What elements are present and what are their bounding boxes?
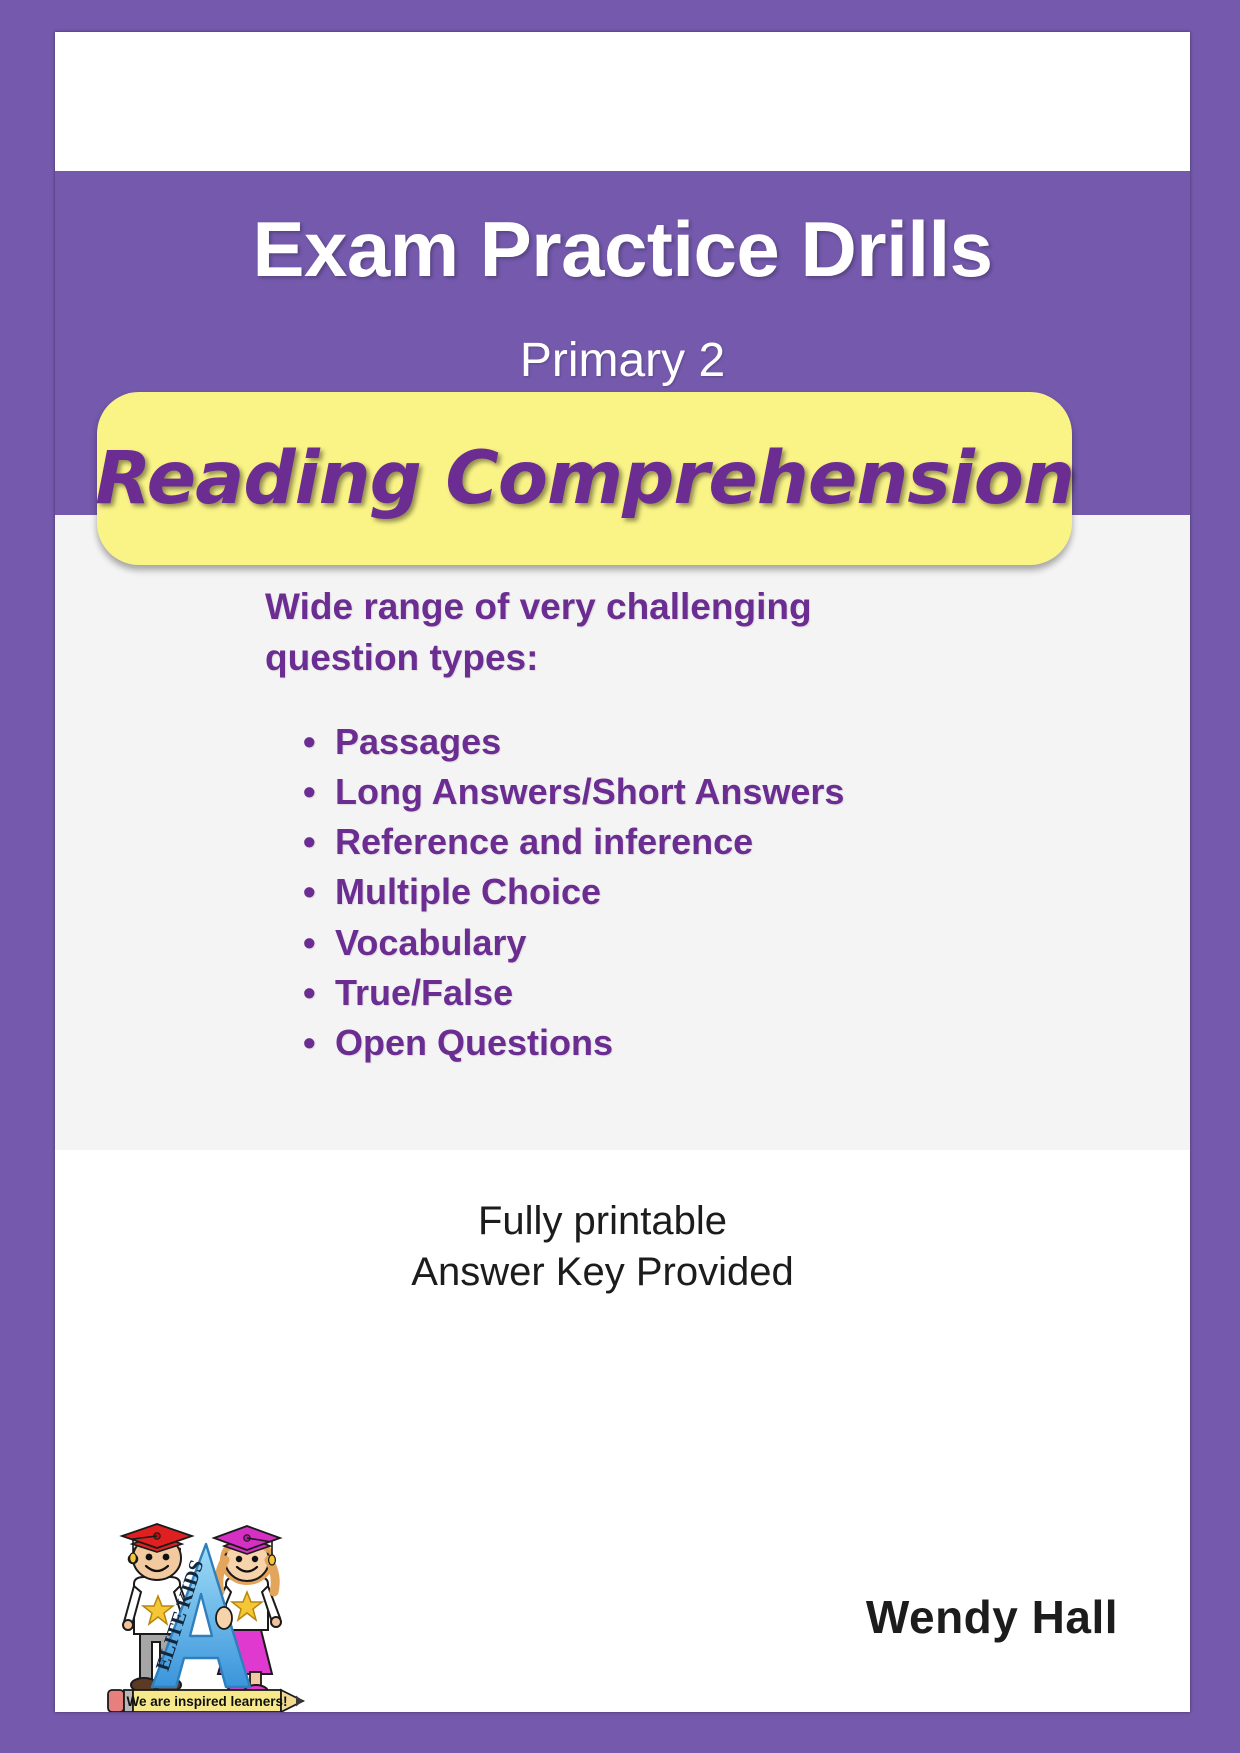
elite-kids-logo: ELITE KIDS We are inspired [100, 1522, 312, 1712]
cover-page: Exam Practice Drills Primary 2 Reading C… [55, 32, 1190, 1712]
bullet-icon: • [303, 918, 316, 968]
printable-line-2: Answer Key Provided [55, 1247, 1150, 1298]
list-item: • Multiple Choice [303, 867, 1065, 917]
bullet-icon: • [303, 717, 316, 767]
list-item: • True/False [303, 968, 1065, 1018]
list-item: • Long Answers/Short Answers [303, 767, 1065, 817]
bullet-icon: • [303, 1018, 316, 1068]
bullet-icon: • [303, 968, 316, 1018]
feature-block: Wide range of very challenging question … [265, 582, 1065, 1068]
printable-line-1: Fully printable [55, 1196, 1150, 1247]
feature-intro-line-2: question types: [265, 633, 1065, 684]
book-cover: Exam Practice Drills Primary 2 Reading C… [0, 0, 1240, 1753]
list-item-label: True/False [335, 972, 513, 1013]
list-item: • Open Questions [303, 1018, 1065, 1068]
list-item: • Passages [303, 717, 1065, 767]
printable-block: Fully printable Answer Key Provided [55, 1196, 1150, 1298]
feature-intro-line-1: Wide range of very challenging [265, 582, 1065, 633]
list-item: • Reference and inference [303, 817, 1065, 867]
subject-banner-label: Reading Comprehension [95, 436, 1074, 521]
list-item-label: Long Answers/Short Answers [335, 771, 844, 812]
page-title: Exam Practice Drills [55, 209, 1190, 291]
list-item-label: Passages [335, 721, 501, 762]
list-item-label: Open Questions [335, 1022, 613, 1063]
logo-pencil-banner: We are inspired learners! [108, 1690, 303, 1712]
bullet-icon: • [303, 767, 316, 817]
footer-section: Fully printable Answer Key Provided Wend… [55, 1150, 1190, 1712]
feature-list: • Passages • Long Answers/Short Answers … [265, 717, 1065, 1067]
list-item: • Vocabulary [303, 918, 1065, 968]
bullet-icon: • [303, 817, 316, 867]
list-item-label: Reference and inference [335, 821, 753, 862]
logo-artwork: ELITE KIDS We are inspired [100, 1522, 312, 1712]
list-item-label: Multiple Choice [335, 871, 601, 912]
list-item-label: Vocabulary [335, 922, 526, 963]
bullet-icon: • [303, 867, 316, 917]
subject-banner: Reading Comprehension [97, 392, 1072, 565]
logo-tagline: We are inspired learners! [126, 1694, 287, 1709]
author-name: Wendy Hall [866, 1590, 1118, 1644]
page-subtitle: Primary 2 [55, 333, 1190, 388]
